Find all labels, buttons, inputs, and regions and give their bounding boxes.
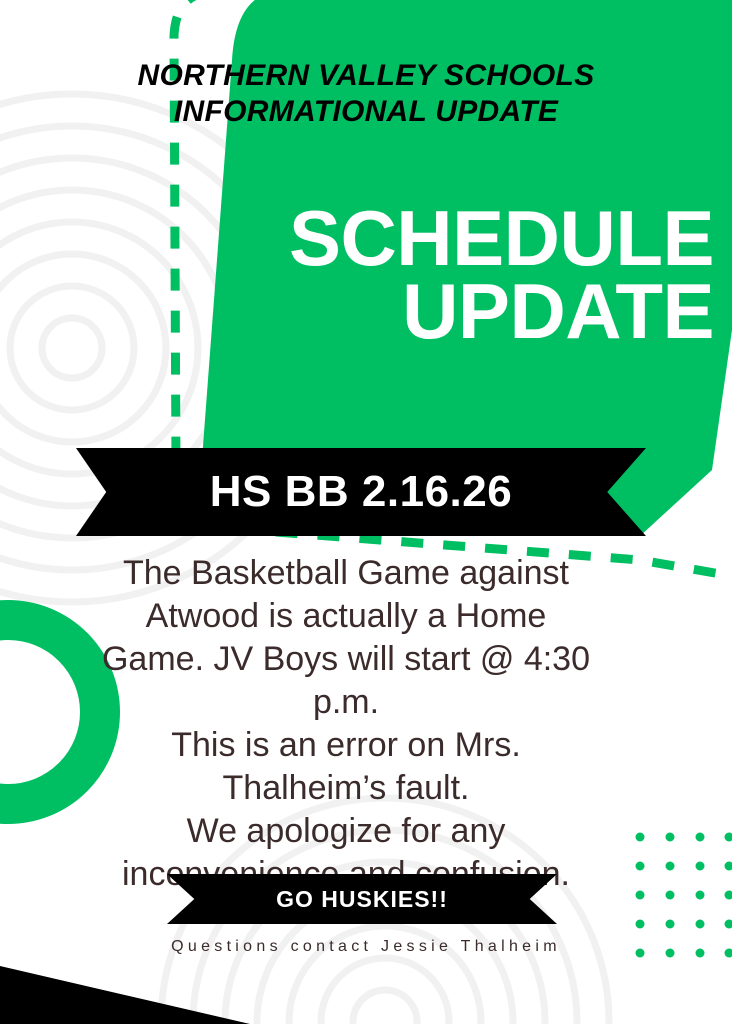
poster-canvas: NORTHERN VALLEY SCHOOLS INFORMATIONAL UP… bbox=[0, 0, 732, 1024]
body-line: We apologize for any bbox=[36, 810, 656, 853]
body-line: p.m. bbox=[36, 681, 656, 724]
header-line-2: INFORMATIONAL UPDATE bbox=[0, 94, 732, 130]
announcement-body: The Basketball Game against Atwood is ac… bbox=[36, 552, 656, 896]
contact-note: Questions contact Jessie Thalheim bbox=[0, 938, 732, 956]
cheer-banner: GO HUSKIES!! bbox=[167, 874, 557, 924]
poster-header: NORTHERN VALLEY SCHOOLS INFORMATIONAL UP… bbox=[0, 58, 732, 130]
cheer-label: GO HUSKIES!! bbox=[276, 888, 448, 911]
header-line-1: NORTHERN VALLEY SCHOOLS bbox=[0, 58, 732, 94]
event-title-banner: HS BB 2.16.26 bbox=[76, 448, 646, 536]
body-line: Game. JV Boys will start @ 4:30 bbox=[36, 638, 656, 681]
hero-line-2: UPDATE bbox=[0, 275, 714, 348]
event-title-label: HS BB 2.16.26 bbox=[210, 470, 512, 514]
poster-hero-title: SCHEDULE UPDATE bbox=[0, 202, 714, 348]
body-line: The Basketball Game against bbox=[36, 552, 656, 595]
black-corner-wedge-shape bbox=[0, 966, 250, 1024]
hero-line-1: SCHEDULE bbox=[0, 202, 714, 275]
body-line: Thalheim’s fault. bbox=[36, 767, 656, 810]
body-line: Atwood is actually a Home bbox=[36, 595, 656, 638]
body-line: This is an error on Mrs. bbox=[36, 724, 656, 767]
